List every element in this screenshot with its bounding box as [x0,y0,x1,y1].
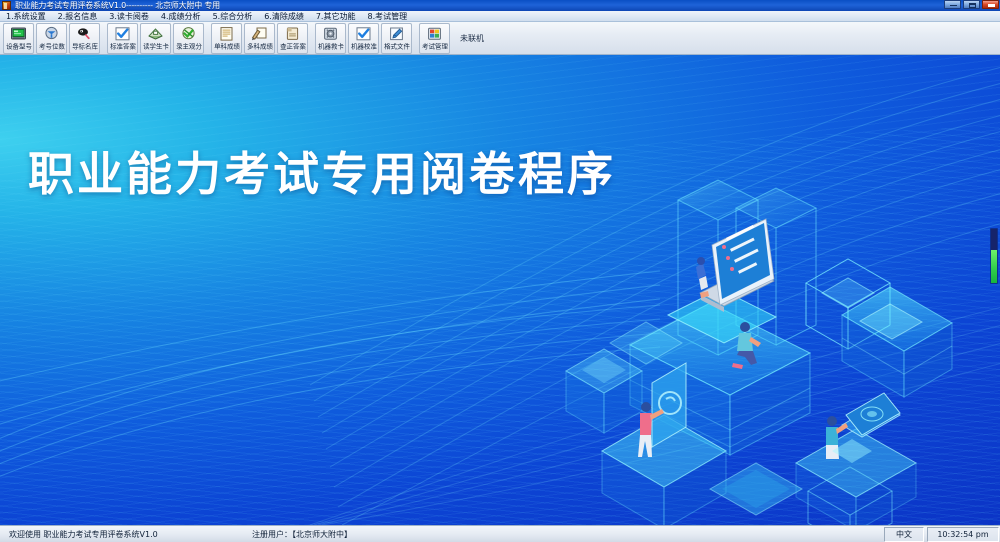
menu-item-other-functions[interactable]: 7.其它功能 [310,11,362,22]
device-model-icon [10,26,27,42]
menu-item-system-settings[interactable]: 1.系统设置 [0,11,52,22]
status-welcome-text: 欢迎使用 职业能力考试专用评卷系统V1.0 [2,527,242,542]
status-bar: 欢迎使用 职业能力考试专用评卷系统V1.0 注册用户：【北京师大附中】 中文 1… [0,525,1000,542]
toolbar-group-settings: 设备型号 考号位数 导标名库 [2,23,101,54]
format-file-icon [388,26,405,42]
toolbar-group-reports: 单科成绩 多科成绩 查正答案 [210,23,309,54]
minimize-button[interactable] [944,0,961,9]
standard-answer-button[interactable]: 标准答案 [107,23,138,54]
machine-calibration-label: 机器校准 [351,43,377,51]
machine-rescue-card-button[interactable]: 机器救卡 [315,23,346,54]
import-name-database-label: 导标名库 [72,43,98,51]
toolbar-group-exam: 考试管理 [418,23,451,54]
import-name-database-button[interactable]: 导标名库 [69,23,100,54]
menu-bar: 1.系统设置 2.报名信息 3.读卡阅卷 4.成绩分析 5.综合分析 6.清除成… [0,11,1000,22]
menu-item-clear-scores[interactable]: 6.清除成绩 [258,11,310,22]
machine-rescue-card-label: 机器救卡 [318,43,344,51]
status-spacer [538,527,881,542]
application-window: 职业能力考试专用评卷系统V1.0---------- 北京师大附中 专用 1.系… [0,0,1000,542]
exam-number-digits-button[interactable]: 考号位数 [36,23,67,54]
verify-answer-label: 查正答案 [280,43,306,51]
menu-item-registration-info[interactable]: 2.报名信息 [52,11,104,22]
right-edge-status-indicator [990,228,998,284]
device-model-button[interactable]: 设备型号 [3,23,34,54]
isometric-technology-illustration [560,175,990,525]
status-clock: 10:32:54 pm [927,527,999,542]
read-student-card-icon [147,26,164,42]
multi-subject-score-button[interactable]: 多科成绩 [244,23,275,54]
enter-subjective-score-icon [180,26,197,42]
menu-item-score-analysis[interactable]: 4.成绩分析 [155,11,207,22]
verify-answer-button[interactable]: 查正答案 [277,23,308,54]
machine-calibration-button[interactable]: 机器校准 [348,23,379,54]
close-button[interactable] [982,0,999,9]
window-title: 职业能力考试专用评卷系统V1.0---------- 北京师大附中 专用 [15,0,220,11]
standard-answer-check-icon [114,26,131,42]
menu-item-card-reading[interactable]: 3.读卡阅卷 [103,11,155,22]
exam-number-digits-icon [43,26,60,42]
single-subject-score-button[interactable]: 单科成绩 [211,23,242,54]
standard-answer-label: 标准答案 [110,43,136,51]
window-controls [944,0,999,9]
read-student-card-button[interactable]: 读学生卡 [140,23,171,54]
app-logo-icon [2,1,11,10]
device-model-label: 设备型号 [6,43,32,51]
toolbar: 设备型号 考号位数 导标名库 标准答案 [0,22,1000,55]
multi-subject-score-label: 多科成绩 [247,43,273,51]
connection-status: 未联机 [460,33,484,44]
menu-item-comprehensive-analysis[interactable]: 5.综合分析 [207,11,259,22]
main-content-area: 职业能力考试专用阅卷程序 [0,55,1000,525]
toolbar-group-grading: 标准答案 读学生卡 录主观分 [106,23,205,54]
format-file-button[interactable]: 格式文件 [381,23,412,54]
single-subject-score-label: 单科成绩 [214,43,240,51]
machine-rescue-card-icon [322,26,339,42]
multi-subject-score-icon [251,26,268,42]
import-name-database-icon [76,26,93,42]
single-subject-score-icon [218,26,235,42]
enter-subjective-score-button[interactable]: 录主观分 [173,23,204,54]
toolbar-group-machine: 机器救卡 机器校准 格式文件 [314,23,413,54]
title-bar[interactable]: 职业能力考试专用评卷系统V1.0---------- 北京师大附中 专用 [0,0,1000,11]
indicator-fill [991,250,997,283]
menu-item-exam-management[interactable]: 8.考试管理 [361,11,413,22]
exam-management-button[interactable]: 考试管理 [419,23,450,54]
exam-number-digits-label: 考号位数 [39,43,65,51]
page-title: 职业能力考试专用阅卷程序 [28,138,616,204]
enter-subjective-score-label: 录主观分 [176,43,202,51]
exam-management-label: 考试管理 [422,43,448,51]
maximize-button[interactable] [963,0,980,9]
exam-management-icon [426,26,443,42]
status-registered-user: 注册用户：【北京师大附中】 [245,527,535,542]
read-student-card-label: 读学生卡 [143,43,169,51]
format-file-label: 格式文件 [384,43,410,51]
machine-calibration-icon [355,26,372,42]
verify-answer-icon [284,26,301,42]
status-ime-indicator: 中文 [884,527,924,542]
